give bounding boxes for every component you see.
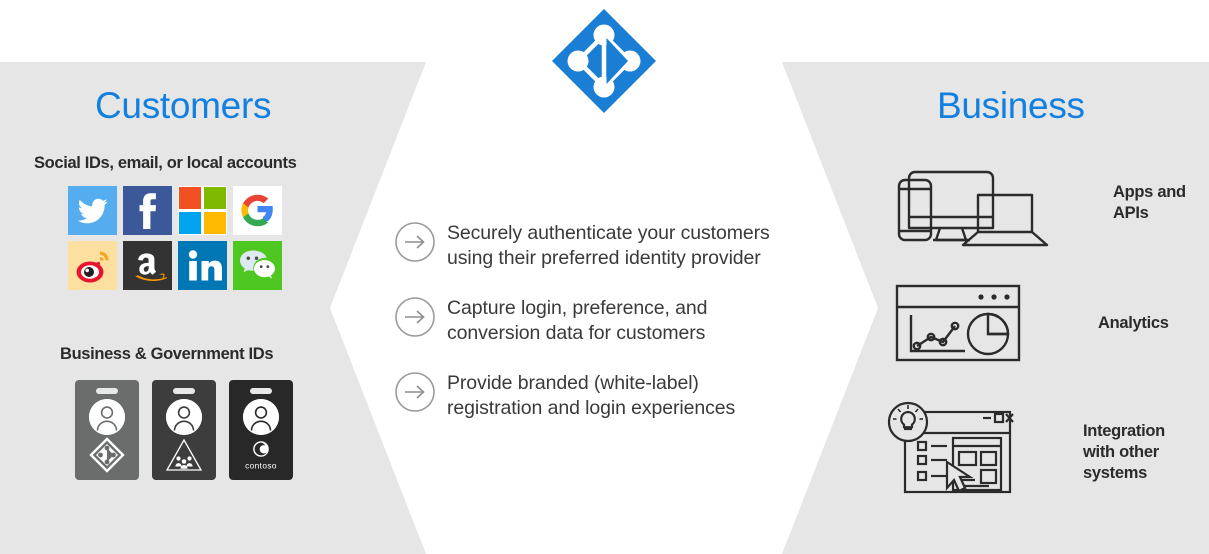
analytics-icon xyxy=(893,281,1023,366)
badge-contoso[interactable]: contoso xyxy=(229,380,293,480)
devices-icon xyxy=(893,158,1053,248)
arrow-right-circle-icon xyxy=(393,370,437,414)
person-avatar-icon xyxy=(166,399,202,435)
customers-title: Customers xyxy=(95,85,271,127)
badge-clip xyxy=(96,388,118,394)
list-item: Provide branded (white-label) registrati… xyxy=(393,368,813,421)
contoso-logo: contoso xyxy=(240,436,282,474)
business-item-label: Integration with other systems xyxy=(1083,421,1165,484)
list-item: Capture login, preference, and conversio… xyxy=(393,293,813,346)
azure-active-directory-logo xyxy=(549,6,659,116)
business-title: Business xyxy=(937,85,1085,127)
business-item-analytics: Analytics xyxy=(893,281,1169,366)
value-proposition-list: Securely authenticate your customers usi… xyxy=(393,218,813,421)
social-ids-heading: Social IDs, email, or local accounts xyxy=(34,154,297,173)
list-item: Securely authenticate your customers usi… xyxy=(393,218,813,271)
business-item-integration: Integration with other systems xyxy=(885,400,1165,505)
government-triangle-logo xyxy=(163,436,205,474)
customers-panel-background xyxy=(0,62,426,554)
arrow-right-circle-icon xyxy=(393,295,437,339)
arrow-right-circle-icon xyxy=(393,220,437,264)
wechat-icon[interactable] xyxy=(233,241,282,290)
badge-government[interactable] xyxy=(152,380,216,480)
diagram-canvas: Customers Social IDs, email, or local ac… xyxy=(0,0,1209,554)
bullet-text: Provide branded (white-label) registrati… xyxy=(447,368,735,421)
weibo-icon[interactable] xyxy=(68,241,117,290)
badge-clip xyxy=(173,388,195,394)
business-item-apps-and-apis: Apps and APIs xyxy=(893,158,1209,248)
badge-azure-ad[interactable] xyxy=(75,380,139,480)
business-government-ids-heading: Business & Government IDs xyxy=(60,345,273,364)
id-badge-row: contoso xyxy=(75,380,293,480)
amazon-icon[interactable] xyxy=(123,241,172,290)
social-provider-grid xyxy=(68,186,282,290)
twitter-icon[interactable] xyxy=(68,186,117,235)
business-item-label: Apps and APIs xyxy=(1113,182,1209,224)
badge-clip xyxy=(250,388,272,394)
microsoft-icon[interactable] xyxy=(178,186,227,235)
facebook-icon[interactable] xyxy=(123,186,172,235)
bullet-text: Securely authenticate your customers usi… xyxy=(447,218,770,271)
contoso-logo-text: contoso xyxy=(245,461,277,471)
azure-ad-diamond-logo xyxy=(86,436,128,474)
bullet-text: Capture login, preference, and conversio… xyxy=(447,293,707,346)
google-icon[interactable] xyxy=(233,186,282,235)
person-avatar-icon xyxy=(243,399,279,435)
business-item-label: Analytics xyxy=(1098,313,1169,334)
linkedin-icon[interactable] xyxy=(178,241,227,290)
integration-icon xyxy=(885,400,1015,505)
person-avatar-icon xyxy=(89,399,125,435)
